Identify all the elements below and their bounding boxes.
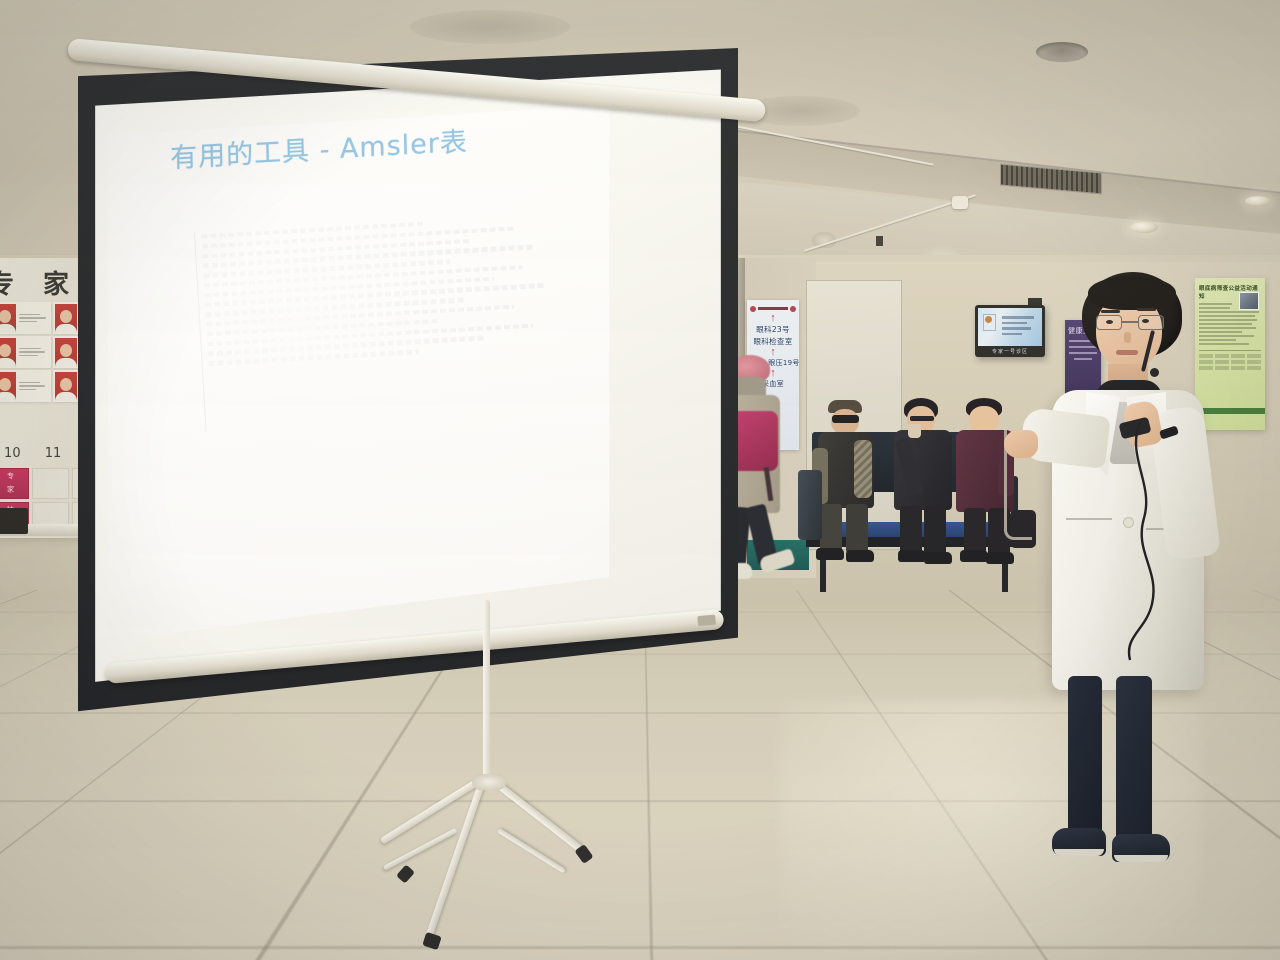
- eye: [1106, 320, 1113, 324]
- board-slot-red: 专 家: [0, 468, 29, 499]
- ceiling-downlight: [1130, 222, 1158, 233]
- coat-button: [1124, 518, 1133, 527]
- poster-thumbnail-image: [1239, 292, 1259, 310]
- sprinkler-head: [876, 236, 883, 246]
- slide-body-text-lines: [202, 214, 576, 447]
- tripod-foot: [396, 864, 415, 883]
- sign-line-1: 眼科23号: [756, 324, 790, 335]
- screen-bar-end-cap: [697, 615, 716, 627]
- hair-fringe: [1088, 276, 1176, 310]
- coat-pocket: [1066, 518, 1112, 520]
- tripod-stand[interactable]: [380, 600, 680, 950]
- headset-microphone-capsule: [1150, 368, 1159, 377]
- leg: [964, 508, 986, 556]
- tripod-foot: [422, 932, 442, 950]
- ceiling-recess-hole: [1036, 42, 1088, 62]
- shoe-left: [1052, 828, 1106, 856]
- tv-portrait-icon: [985, 316, 992, 323]
- up-arrow-icon: ↑: [770, 314, 776, 323]
- tripod-leg: [425, 777, 486, 938]
- shoe-sole: [1114, 855, 1168, 862]
- trouser-leg-left: [1068, 676, 1102, 846]
- board-slot-label: 专 家: [6, 472, 16, 494]
- sunglasses: [832, 415, 859, 423]
- presenting-doctor: [1000, 272, 1230, 872]
- leg: [924, 506, 946, 558]
- expert-photo: [0, 372, 16, 401]
- eye: [1142, 319, 1149, 323]
- eyeglass-bridge: [1122, 321, 1138, 323]
- shoe: [846, 550, 874, 562]
- leg: [846, 504, 868, 554]
- leg: [820, 504, 842, 554]
- eyebrow: [1137, 308, 1156, 311]
- leg: [900, 506, 922, 556]
- shoe: [898, 550, 926, 562]
- sign-header-bar: [758, 307, 788, 310]
- tripod-center-column: [483, 600, 490, 780]
- slide-body: [194, 212, 581, 554]
- expert-photo: [0, 338, 16, 367]
- shoe-sole: [1054, 849, 1104, 856]
- shelf-black-box: [0, 508, 28, 534]
- ceiling-downlight: [1245, 196, 1271, 206]
- mouth: [1116, 350, 1138, 355]
- sweater-sleeve: [854, 440, 872, 498]
- shoe-right: [1112, 834, 1170, 862]
- sign-dot-icon: [790, 306, 796, 312]
- expert-card: [0, 336, 51, 368]
- list-item: [890, 398, 958, 564]
- tripod-hub: [472, 774, 506, 790]
- lecture-scene-photo: 区 挂号、收费 诊室 12号 ↑ 眼科23号 眼科检查室 ↑ 视力、眼压19号 …: [0, 0, 1280, 960]
- expert-card: [0, 302, 51, 334]
- expert-photo: [0, 304, 16, 333]
- trouser-leg-right: [1116, 676, 1152, 852]
- list-item: [812, 400, 882, 560]
- eyebrow: [1101, 310, 1120, 313]
- nose: [1124, 332, 1131, 343]
- eyeglasses: [910, 416, 934, 421]
- hand-left: [1004, 430, 1038, 458]
- shoe: [924, 552, 952, 564]
- shoe: [816, 548, 844, 560]
- wire-clip: [952, 196, 968, 209]
- shoe: [960, 550, 988, 562]
- expert-card: [0, 370, 51, 402]
- paper-cup: [908, 424, 921, 438]
- queue-number: 10: [4, 446, 21, 461]
- eyeglass-lens: [1138, 315, 1164, 330]
- queue-number: 11: [45, 446, 62, 461]
